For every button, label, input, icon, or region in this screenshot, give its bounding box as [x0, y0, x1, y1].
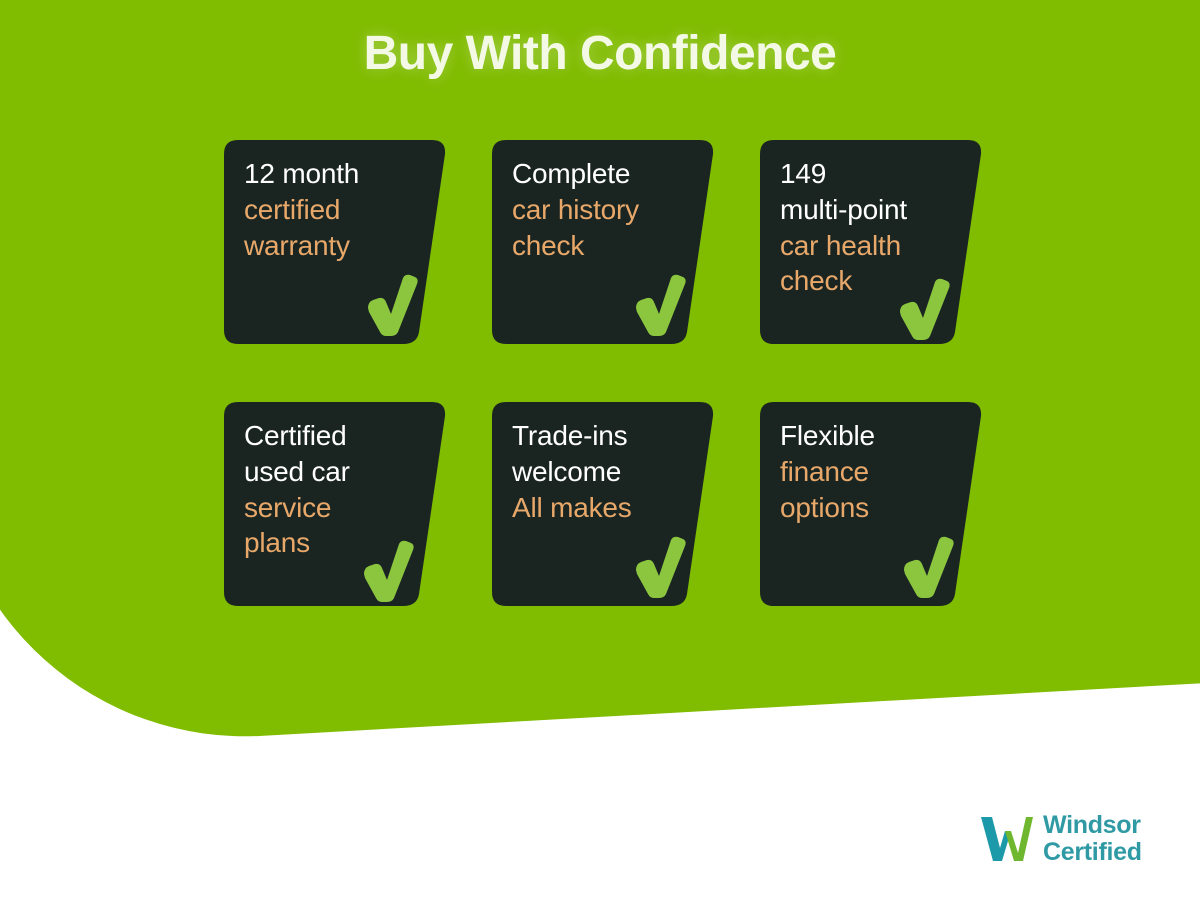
feature-card-grid: 12 monthcertifiedwarrantyCompletecar his… — [222, 138, 984, 662]
brand-logo-line-1: Windsor — [1043, 812, 1142, 839]
card-line: certified — [244, 192, 418, 228]
card-text-block: 12 monthcertifiedwarranty — [244, 156, 418, 263]
checkmark-icon — [362, 540, 414, 602]
card-149-multi-point-car-health-check[interactable]: 149multi-pointcar healthcheck — [758, 138, 984, 346]
checkmark-icon — [902, 536, 954, 598]
card-complete-car-history-check[interactable]: Completecar historycheck — [490, 138, 716, 346]
poster-canvas: Buy With Confidence 12 monthcertifiedwar… — [0, 0, 1200, 900]
windsor-w-icon — [978, 813, 1034, 865]
card-line: warranty — [244, 228, 418, 264]
card-line: Flexible — [780, 418, 954, 454]
card-line: welcome — [512, 454, 686, 490]
card-line: 12 month — [244, 156, 418, 192]
card-text-block: Flexiblefinanceoptions — [780, 418, 954, 525]
brand-logo: Windsor Certified — [978, 812, 1142, 865]
feature-card-row-1: 12 monthcertifiedwarrantyCompletecar his… — [222, 138, 984, 346]
brand-logo-line-2: Certified — [1043, 839, 1142, 866]
checkmark-icon — [898, 278, 950, 340]
card-certified-used-car-service-plans[interactable]: Certifiedused carserviceplans — [222, 400, 448, 608]
checkmark-icon — [634, 274, 686, 336]
checkmark-icon — [634, 536, 686, 598]
card-line: multi-point — [780, 192, 954, 228]
card-line: service — [244, 490, 418, 526]
card-line: check — [512, 228, 686, 264]
card-line: options — [780, 490, 954, 526]
card-text-block: Completecar historycheck — [512, 156, 686, 263]
card-line: Certified — [244, 418, 418, 454]
card-line: All makes — [512, 490, 686, 526]
card-12-month-certified-warranty[interactable]: 12 monthcertifiedwarranty — [222, 138, 448, 346]
page-title: Buy With Confidence — [0, 26, 1200, 81]
card-trade-ins-welcome-all-makes[interactable]: Trade-inswelcomeAll makes — [490, 400, 716, 608]
card-line: car history — [512, 192, 686, 228]
card-line: used car — [244, 454, 418, 490]
checkmark-icon — [366, 274, 418, 336]
card-line: 149 — [780, 156, 954, 192]
card-text-block: Trade-inswelcomeAll makes — [512, 418, 686, 525]
card-flexible-finance-options[interactable]: Flexiblefinanceoptions — [758, 400, 984, 608]
brand-logo-text: Windsor Certified — [1043, 812, 1142, 865]
card-line: Trade-ins — [512, 418, 686, 454]
card-line: Complete — [512, 156, 686, 192]
feature-card-row-2: Certifiedused carserviceplansTrade-inswe… — [222, 400, 984, 608]
card-line: car health — [780, 228, 954, 264]
card-line: finance — [780, 454, 954, 490]
